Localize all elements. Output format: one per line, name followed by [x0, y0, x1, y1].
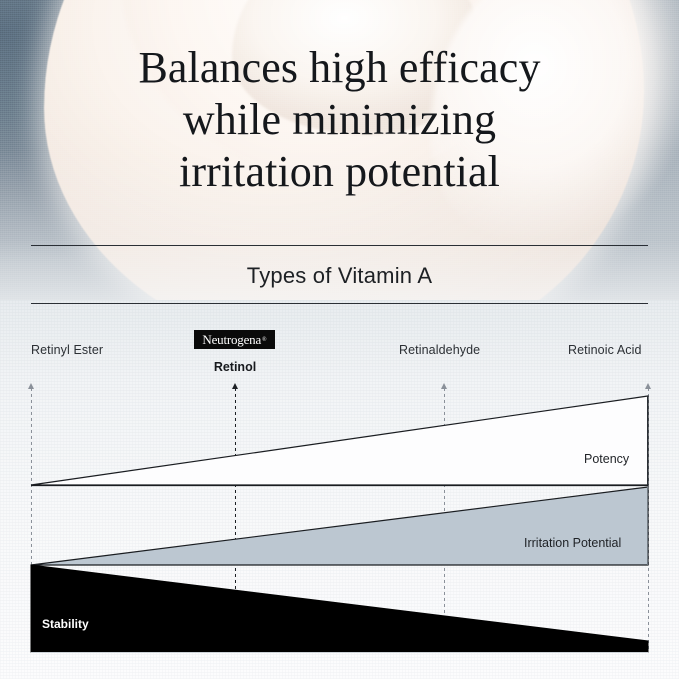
series-label-irritation-potential: Irritation Potential	[524, 536, 621, 550]
potency-wedge	[31, 396, 648, 485]
series-label-stability: Stability	[42, 617, 89, 631]
promo-infographic: Balances high efficacy while minimizing …	[0, 0, 679, 679]
series-label-potency: Potency	[584, 452, 629, 466]
chart-plot-area	[0, 0, 679, 679]
irritation-potential-wedge	[31, 487, 648, 565]
stability-wedge	[31, 565, 648, 652]
